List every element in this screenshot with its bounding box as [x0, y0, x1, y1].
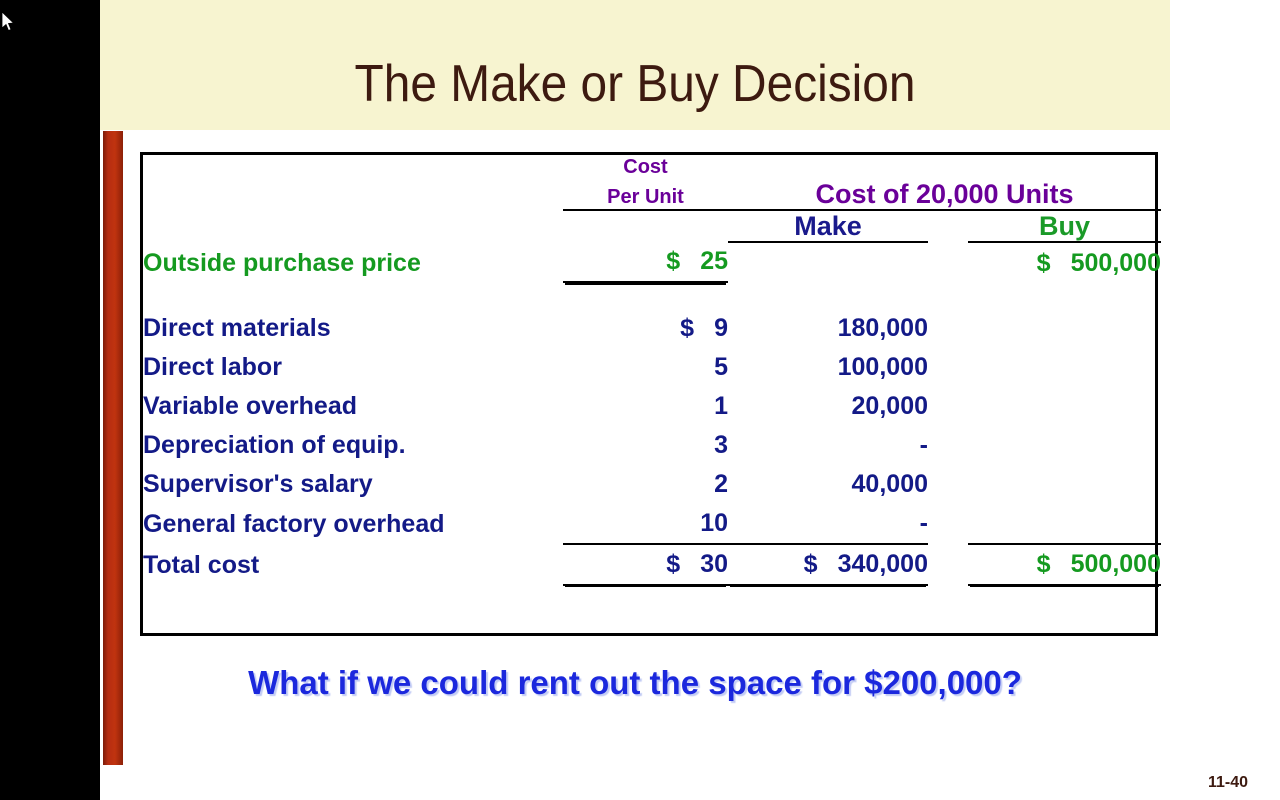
row-per-unit: 3 — [563, 426, 728, 465]
row-per-unit: $9 — [563, 309, 728, 348]
row-per-unit-value: 5 — [714, 348, 728, 387]
row-per-unit: 2 — [563, 465, 728, 504]
table-header-row-3: Make Buy — [143, 210, 1161, 242]
table-header-row-2: Per Unit Cost of 20,000 Units — [143, 179, 1161, 210]
row-gap — [928, 242, 968, 283]
table-row: General factory overhead 10 - — [143, 504, 1161, 544]
row-buy — [968, 309, 1161, 348]
row-per-unit-value: 3 — [714, 426, 728, 465]
total-make-value: 340,000 — [838, 545, 928, 584]
row-gap — [928, 387, 968, 426]
title-band: The Make or Buy Decision — [100, 0, 1170, 130]
total-gap — [928, 544, 968, 585]
row-label: Outside purchase price — [143, 242, 563, 283]
row-label: Supervisor's salary — [143, 465, 563, 504]
row-per-unit: 10 — [563, 504, 728, 544]
table-row: Variable overhead 1 20,000 — [143, 387, 1161, 426]
row-label: General factory overhead — [143, 504, 563, 544]
header-spacer-1 — [143, 155, 563, 179]
table-row: Direct labor 5 100,000 — [143, 348, 1161, 387]
mouse-cursor-icon — [2, 12, 16, 32]
row-per-unit-value: 2 — [714, 465, 728, 504]
question-text: What if we could rent out the space for … — [100, 664, 1170, 702]
header-spacer-5 — [143, 179, 563, 210]
table-header-row-1: Cost — [143, 155, 1161, 179]
row-spacer — [143, 283, 1161, 309]
page-number: 11-40 — [1208, 774, 1248, 792]
row-make: - — [728, 504, 928, 544]
total-per-unit-value: 30 — [700, 545, 728, 584]
slide-canvas: The Make or Buy Decision Cost Pe — [100, 0, 1280, 800]
row-make: - — [728, 426, 928, 465]
row-per-unit-value: 25 — [700, 242, 728, 281]
header-spacer-4 — [968, 155, 1161, 179]
row-buy — [968, 465, 1161, 504]
make-or-buy-table: Cost Per Unit Cost of 20,000 Units Make — [143, 155, 1161, 586]
total-label: Total cost — [143, 544, 563, 585]
row-buy — [968, 387, 1161, 426]
row-per-unit-value: 1 — [714, 387, 728, 426]
row-gap — [928, 504, 968, 544]
header-cost-line2: Per Unit — [563, 179, 728, 210]
table-total-row: Total cost $30 $340,000 $50 — [143, 544, 1161, 585]
header-spacer-6 — [143, 210, 563, 242]
row-label: Variable overhead — [143, 387, 563, 426]
total-buy-value: 500,000 — [1071, 545, 1161, 584]
row-per-unit-value: 10 — [700, 504, 728, 543]
table-row: Direct materials $9 180,000 — [143, 309, 1161, 348]
cost-comparison-table: Cost Per Unit Cost of 20,000 Units Make — [140, 152, 1158, 636]
header-group-label: Cost of 20,000 Units — [728, 179, 1161, 210]
row-per-unit: $25 — [563, 242, 728, 283]
row-buy — [968, 426, 1161, 465]
total-per-unit: $30 — [563, 544, 728, 585]
row-buy-value: 500,000 — [1071, 244, 1161, 283]
row-make — [728, 242, 928, 283]
currency-symbol: $ — [680, 309, 714, 348]
table-row: Outside purchase price $25 $500,000 — [143, 242, 1161, 283]
row-make: 180,000 — [728, 309, 928, 348]
row-per-unit-value: 9 — [714, 309, 728, 348]
header-spacer-2 — [728, 155, 928, 179]
header-make: Make — [728, 210, 928, 242]
row-gap — [928, 348, 968, 387]
row-label: Direct materials — [143, 309, 563, 348]
total-make: $340,000 — [728, 544, 928, 585]
row-label: Direct labor — [143, 348, 563, 387]
row-buy — [968, 348, 1161, 387]
header-spacer-7 — [563, 210, 728, 242]
row-gap — [928, 309, 968, 348]
row-make: 20,000 — [728, 387, 928, 426]
page-title: The Make or Buy Decision — [143, 56, 1127, 112]
currency-symbol: $ — [1037, 545, 1071, 584]
currency-symbol: $ — [1037, 244, 1071, 283]
row-label: Depreciation of equip. — [143, 426, 563, 465]
currency-symbol: $ — [666, 545, 700, 584]
row-make: 40,000 — [728, 465, 928, 504]
header-spacer-3 — [928, 155, 968, 179]
total-buy: $500,000 — [968, 544, 1161, 585]
table-row: Depreciation of equip. 3 - — [143, 426, 1161, 465]
header-buy: Buy — [968, 210, 1161, 242]
row-per-unit: 5 — [563, 348, 728, 387]
row-per-unit: 1 — [563, 387, 728, 426]
row-buy — [968, 504, 1161, 544]
row-gap — [928, 465, 968, 504]
row-gap — [928, 426, 968, 465]
header-cost-line1: Cost — [563, 155, 728, 179]
row-make: 100,000 — [728, 348, 928, 387]
table-row: Supervisor's salary 2 40,000 — [143, 465, 1161, 504]
currency-symbol: $ — [804, 545, 838, 584]
row-buy: $500,000 — [968, 242, 1161, 283]
header-spacer-8 — [928, 210, 968, 242]
currency-symbol: $ — [666, 242, 700, 281]
